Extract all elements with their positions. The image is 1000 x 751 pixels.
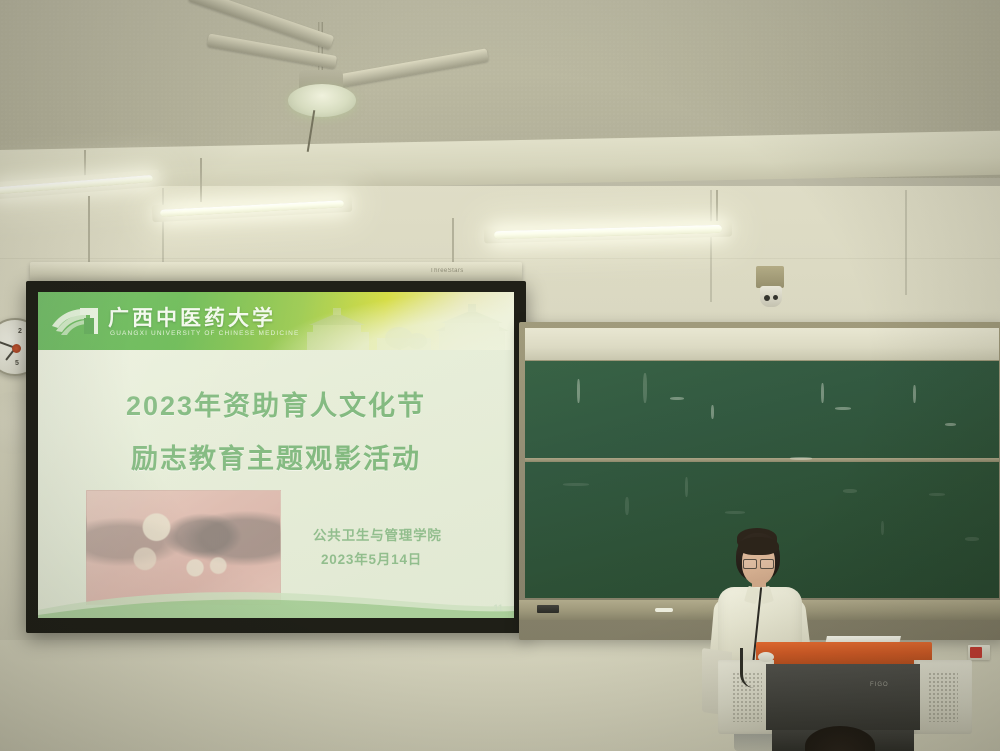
chalk-stick[interactable] <box>655 608 673 612</box>
blackboard-eraser[interactable] <box>537 605 559 613</box>
chalk-mark <box>965 537 979 541</box>
slide-title-line-2: 励志教育主题观影活动 <box>38 437 514 476</box>
chalk-mark <box>670 397 684 400</box>
screen-brand-label: ThreeStars <box>430 268 464 274</box>
chalk-mark <box>563 483 589 486</box>
hair-fringe <box>738 537 779 555</box>
chalk-mark <box>913 385 916 403</box>
clock-number-5: 5 <box>15 360 19 367</box>
wall-seam-horizontal <box>0 258 1000 259</box>
slide-title-line-1: 2023年资助育人文化节 <box>38 384 514 423</box>
blackboard-top-rail <box>525 328 999 360</box>
camera-lens-icon <box>764 295 770 301</box>
chalk-mark <box>643 373 647 403</box>
podium-front-face <box>766 664 920 730</box>
blackboard-divider <box>525 458 999 462</box>
projection-screen: 广西中医药大学 GUANGXI UNIVERSITY OF CHINESE ME… <box>26 281 526 633</box>
podium-desktop <box>756 642 932 664</box>
university-name-english: GUANGXI UNIVERSITY OF CHINESE MEDICINE <box>110 330 300 337</box>
slide-organization: 公共卫生与管理学院 <box>313 524 442 544</box>
wall-seam-vertical-1 <box>162 188 164 264</box>
classroom-photo: 2 3 4 5 ThreeStars <box>0 0 1000 751</box>
wall-seam-vertical-3 <box>905 190 907 295</box>
clock-number-2: 2 <box>18 328 22 335</box>
podium-speaker-grill-right <box>928 672 958 722</box>
slide-page-number: 11 <box>493 603 503 613</box>
projection-screen-surface: 广西中医药大学 GUANGXI UNIVERSITY OF CHINESE ME… <box>38 292 514 618</box>
university-name-chinese: 广西中医药大学 <box>108 302 276 332</box>
chalk-mark <box>945 423 956 426</box>
glasses-left-lens-icon <box>743 559 757 569</box>
chalk-mark <box>843 489 857 493</box>
chalk-mark <box>711 405 714 419</box>
chalk-mark <box>881 521 884 535</box>
chalk-mark <box>625 497 629 515</box>
chalk-mark <box>929 493 945 496</box>
podium-right-panel <box>914 660 972 734</box>
header-swoosh-overlay <box>254 292 514 350</box>
podium-cable <box>740 648 757 688</box>
chalk-mark <box>577 379 580 403</box>
screen-suspension-wire-right <box>452 218 454 262</box>
slide-date: 2023年5月14日 <box>321 548 422 568</box>
university-logo-icon <box>50 304 102 338</box>
wall-seam-vertical-2 <box>710 190 712 302</box>
chalk-mark <box>835 407 851 410</box>
camera-mount-bracket <box>756 266 784 288</box>
chalk-mark <box>685 477 688 497</box>
presentation-slide: 广西中医药大学 GUANGXI UNIVERSITY OF CHINESE ME… <box>38 292 514 618</box>
light-hanger-left <box>84 150 86 178</box>
podium-brand-label: FIGO <box>870 682 889 688</box>
chalk-mark <box>790 457 812 460</box>
slide-header-banner: 广西中医药大学 GUANGXI UNIVERSITY OF CHINESE ME… <box>38 292 514 350</box>
chalk-mark <box>725 511 745 514</box>
light-hanger-mid <box>200 158 202 202</box>
podium-microphone[interactable] <box>758 652 774 662</box>
camera-sensor-icon <box>773 295 778 300</box>
slide-footer-wave <box>38 584 514 618</box>
clock-center-cap <box>12 344 21 353</box>
fan-light-dome <box>288 84 356 117</box>
chalk-mark <box>821 383 824 403</box>
glasses-right-lens-icon <box>760 559 774 569</box>
screen-suspension-wire-left <box>88 196 90 262</box>
